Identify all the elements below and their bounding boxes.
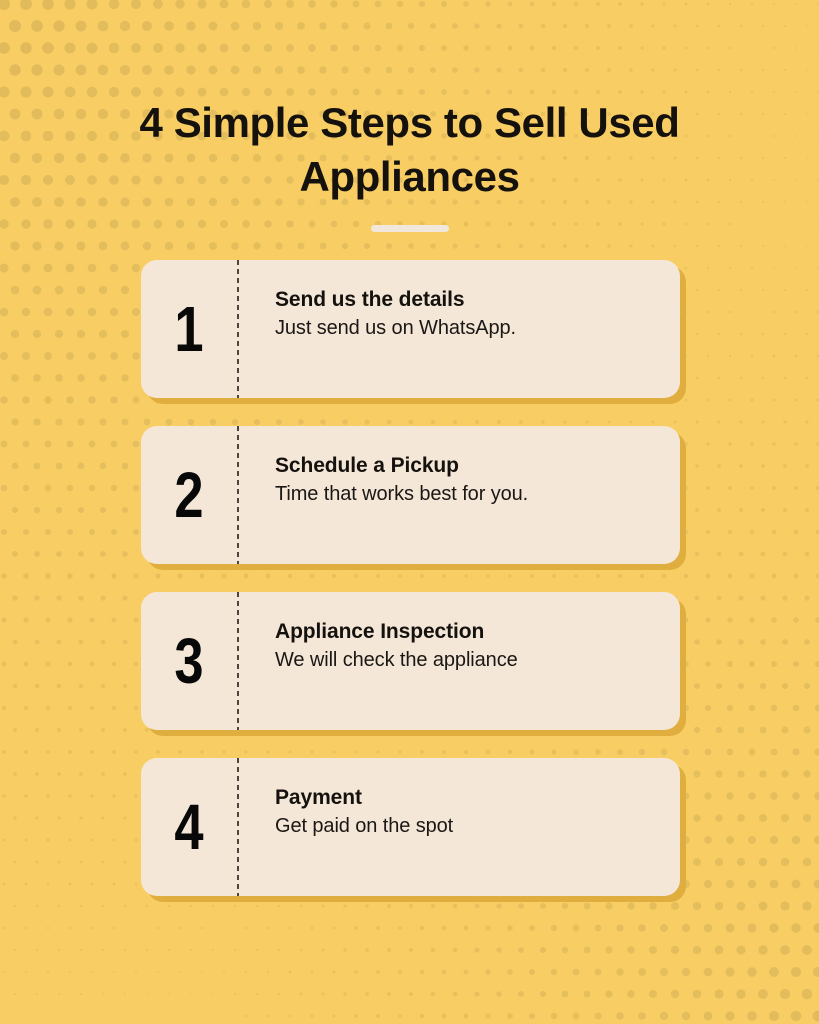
step-card[interactable]: 3Appliance InspectionWe will check the a… (141, 592, 680, 730)
step-text-block: PaymentGet paid on the spot (275, 784, 660, 841)
step-dashed-divider (237, 758, 239, 896)
step-heading: Send us the details (275, 286, 660, 314)
step-card[interactable]: 1Send us the detailsJust send us on What… (141, 260, 680, 398)
step-card[interactable]: 4PaymentGet paid on the spot (141, 758, 680, 896)
step-card-surface[interactable]: 1Send us the detailsJust send us on What… (141, 260, 680, 398)
step-card-surface[interactable]: 4PaymentGet paid on the spot (141, 758, 680, 896)
step-heading: Payment (275, 784, 660, 812)
step-heading: Schedule a Pickup (275, 452, 660, 480)
step-text-block: Send us the detailsJust send us on Whats… (275, 286, 660, 343)
page-title: 4 Simple Steps to Sell Used Appliances (0, 96, 819, 204)
step-description: We will check the appliance (275, 646, 660, 675)
step-dashed-divider (237, 426, 239, 564)
step-dashed-divider (237, 260, 239, 398)
step-card[interactable]: 2Schedule a PickupTime that works best f… (141, 426, 680, 564)
step-number: 1 (150, 260, 229, 398)
step-description: Time that works best for you. (275, 480, 660, 509)
steps-list: 1Send us the detailsJust send us on What… (141, 260, 686, 924)
step-dashed-divider (237, 592, 239, 730)
title-divider-bar (371, 225, 449, 232)
step-card-surface[interactable]: 3Appliance InspectionWe will check the a… (141, 592, 680, 730)
step-description: Just send us on WhatsApp. (275, 314, 660, 343)
step-text-block: Appliance InspectionWe will check the ap… (275, 618, 660, 675)
step-number: 3 (150, 592, 229, 730)
step-description: Get paid on the spot (275, 812, 660, 841)
step-text-block: Schedule a PickupTime that works best fo… (275, 452, 660, 509)
step-number: 2 (150, 426, 229, 564)
step-heading: Appliance Inspection (275, 618, 660, 646)
step-number: 4 (150, 758, 229, 896)
step-card-surface[interactable]: 2Schedule a PickupTime that works best f… (141, 426, 680, 564)
header: 4 Simple Steps to Sell Used Appliances (0, 96, 819, 232)
infographic-page: 4 Simple Steps to Sell Used Appliances 1… (0, 0, 819, 1024)
